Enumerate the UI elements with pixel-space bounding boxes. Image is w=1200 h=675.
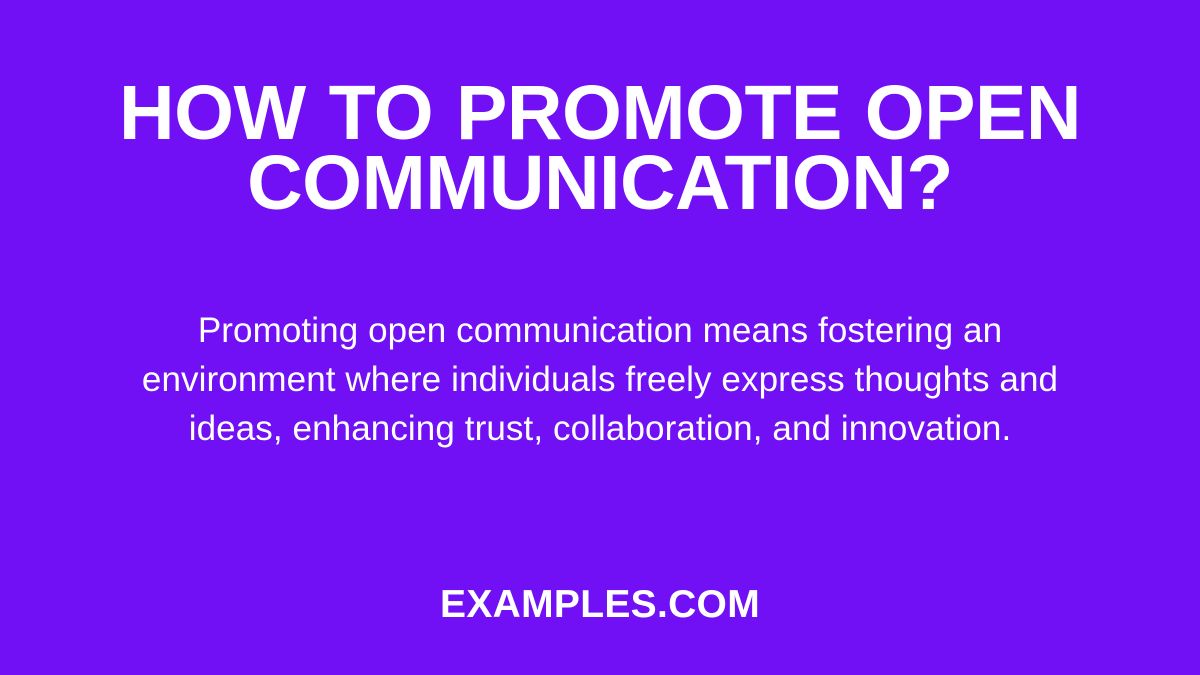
title-block: HOW TO PROMOTE OPEN COMMUNICATION? — [95, 78, 1105, 218]
page-title: HOW TO PROMOTE OPEN COMMUNICATION? — [95, 78, 1105, 218]
footer-block: EXAMPLES.COM — [0, 585, 1200, 624]
slide-canvas: HOW TO PROMOTE OPEN COMMUNICATION? Promo… — [0, 0, 1200, 675]
body-paragraph: Promoting open communication means foste… — [135, 306, 1065, 453]
body-block: Promoting open communication means foste… — [135, 306, 1065, 453]
brand-wordmark: EXAMPLES.COM — [440, 585, 760, 624]
